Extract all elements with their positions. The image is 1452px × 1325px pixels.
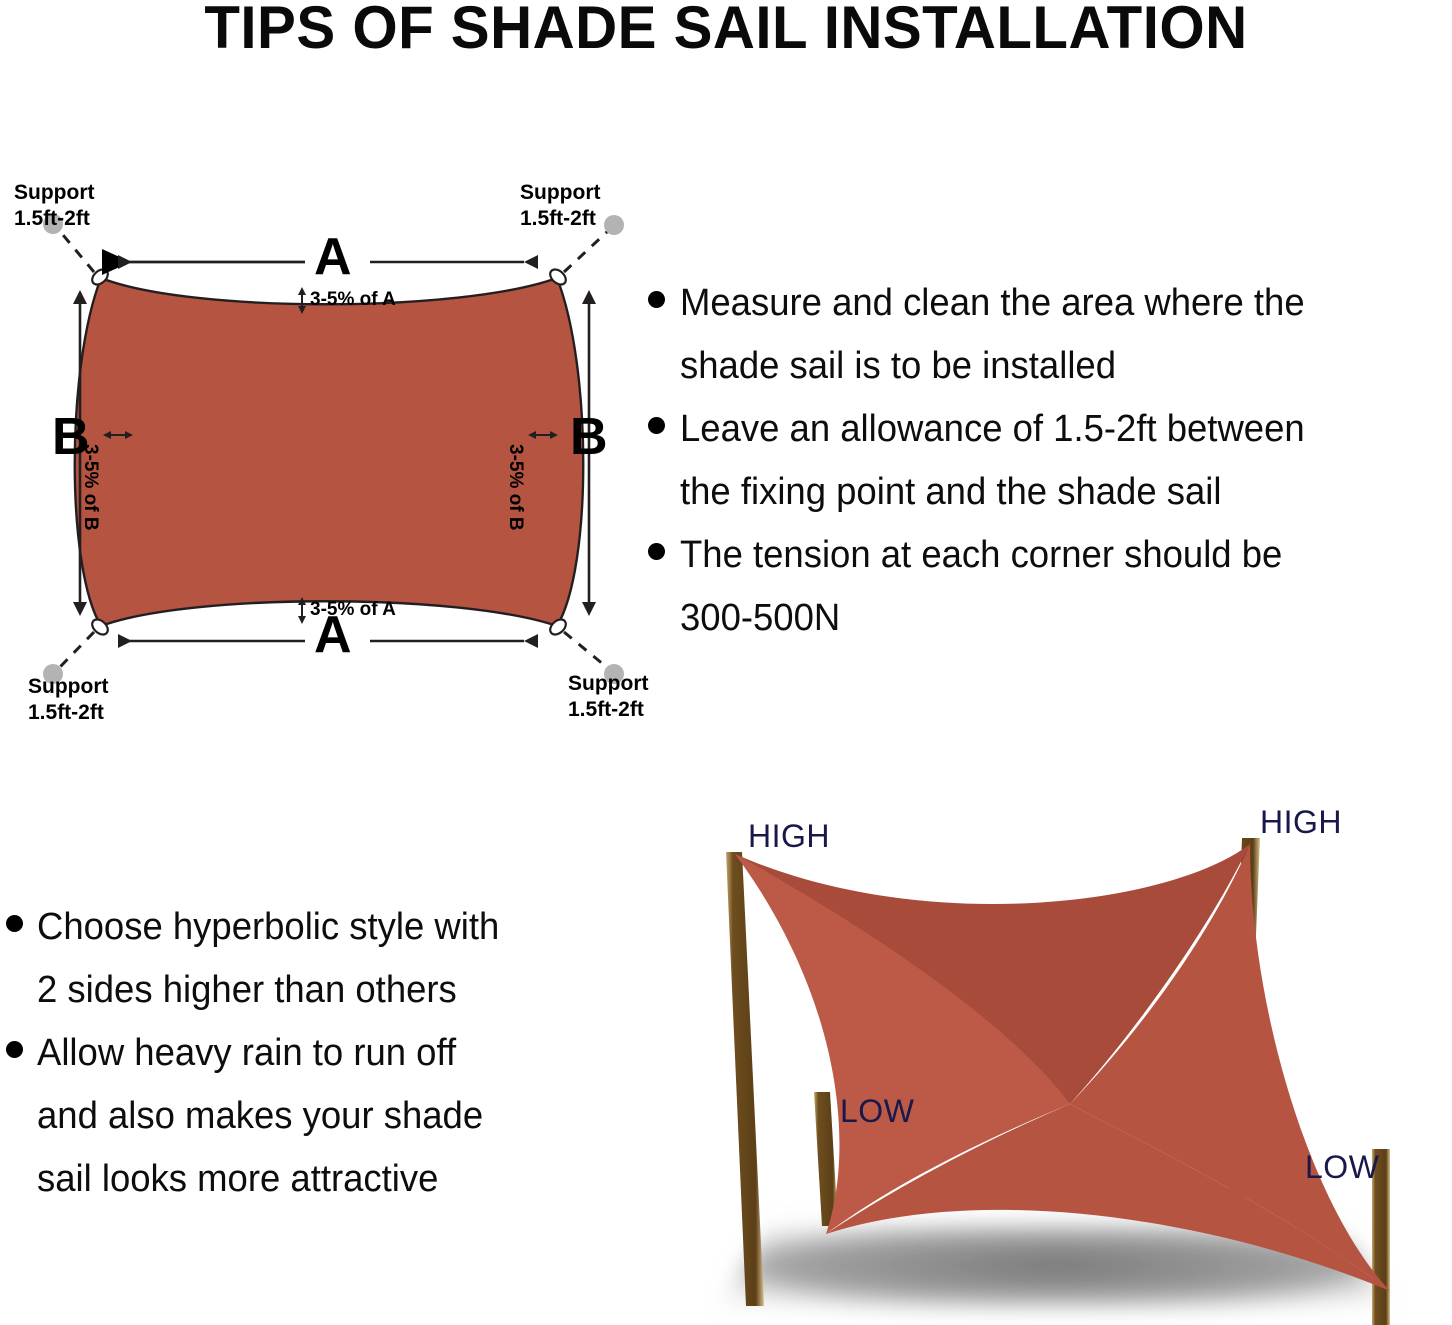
list-item-text: Allow heavy rain to run off and also mak…	[37, 1022, 502, 1211]
curve-label-left: 3-5% of B	[79, 444, 101, 531]
bullet-dot-icon	[648, 417, 665, 434]
installation-tips-infographic: TIPS OF SHADE SAIL INSTALLATION	[0, 0, 1452, 1325]
support-label-value: 1.5ft-2ft	[28, 700, 108, 726]
dimension-label-a-top: A	[314, 231, 352, 283]
curve-label-bottom: 3-5% of A	[310, 599, 396, 621]
support-label-value: 1.5ft-2ft	[520, 206, 600, 232]
support-label-top-right: Support 1.5ft-2ft	[520, 180, 600, 232]
support-label-text: Support	[14, 180, 94, 206]
pole-back-left	[726, 852, 764, 1306]
list-item: Leave an allowance of 1.5-2ft between th…	[648, 398, 1452, 524]
list-item-line: 2 sides higher than others	[37, 959, 499, 1022]
list-item-text: The tension at each corner should be 300…	[680, 524, 1307, 650]
support-label-bottom-right: Support 1.5ft-2ft	[568, 671, 648, 723]
list-item-line: and also makes your shade	[37, 1085, 483, 1148]
support-label-value: 1.5ft-2ft	[14, 206, 94, 232]
bullet-dot-icon	[6, 915, 23, 932]
list-item-line: Leave an allowance of 1.5-2ft between	[680, 398, 1305, 461]
list-item-line: the fixing point and the shade sail	[680, 461, 1305, 524]
hyperbolic-sail-diagram: HIGH HIGH LOW LOW	[650, 786, 1450, 1325]
bullet-dot-icon	[648, 291, 665, 308]
corner-label-high-right: HIGH	[1260, 804, 1342, 841]
curve-label-top: 3-5% of A	[310, 289, 396, 311]
corner-label-high-left: HIGH	[748, 818, 830, 855]
support-label-text: Support	[568, 671, 648, 697]
corner-label-low-left: LOW	[840, 1093, 914, 1130]
page-title: TIPS OF SHADE SAIL INSTALLATION	[22, 0, 1430, 60]
curve-label-right: 3-5% of B	[504, 444, 526, 531]
list-item-line: 300-500N	[680, 587, 1282, 650]
list-item-line: sail looks more attractive	[37, 1148, 483, 1211]
list-item-text: Leave an allowance of 1.5-2ft between th…	[680, 398, 1331, 524]
list-item-line: Choose hyperbolic style with	[37, 896, 499, 959]
list-item-line: The tension at each corner should be	[680, 524, 1282, 587]
list-item-line: Measure and clean the area where the	[680, 272, 1305, 335]
hyperbolic-style-list: Choose hyperbolic style with 2 sides hig…	[6, 896, 646, 1211]
support-label-top-left: Support 1.5ft-2ft	[14, 180, 94, 232]
list-item: Measure and clean the area where the sha…	[648, 272, 1452, 398]
rectangular-sail-diagram: Support 1.5ft-2ft Support 1.5ft-2ft Supp…	[0, 168, 660, 728]
list-item-text: Choose hyperbolic style with 2 sides hig…	[37, 896, 519, 1022]
list-item: The tension at each corner should be 300…	[648, 524, 1452, 650]
support-label-bottom-left: Support 1.5ft-2ft	[28, 674, 108, 726]
bullet-dot-icon	[648, 543, 665, 560]
list-item: Allow heavy rain to run off and also mak…	[6, 1022, 646, 1211]
support-label-value: 1.5ft-2ft	[568, 697, 648, 723]
list-item-line: Allow heavy rain to run off	[37, 1022, 483, 1085]
installation-tips-list: Measure and clean the area where the sha…	[648, 272, 1452, 650]
corner-label-low-right: LOW	[1305, 1149, 1379, 1186]
support-label-text: Support	[520, 180, 600, 206]
list-item-line: shade sail is to be installed	[680, 335, 1305, 398]
list-item-text: Measure and clean the area where the sha…	[680, 272, 1331, 398]
support-label-text: Support	[28, 674, 108, 700]
list-item: Choose hyperbolic style with 2 sides hig…	[6, 896, 646, 1022]
dimension-label-b-right: B	[570, 411, 608, 463]
bullet-dot-icon	[6, 1041, 23, 1058]
